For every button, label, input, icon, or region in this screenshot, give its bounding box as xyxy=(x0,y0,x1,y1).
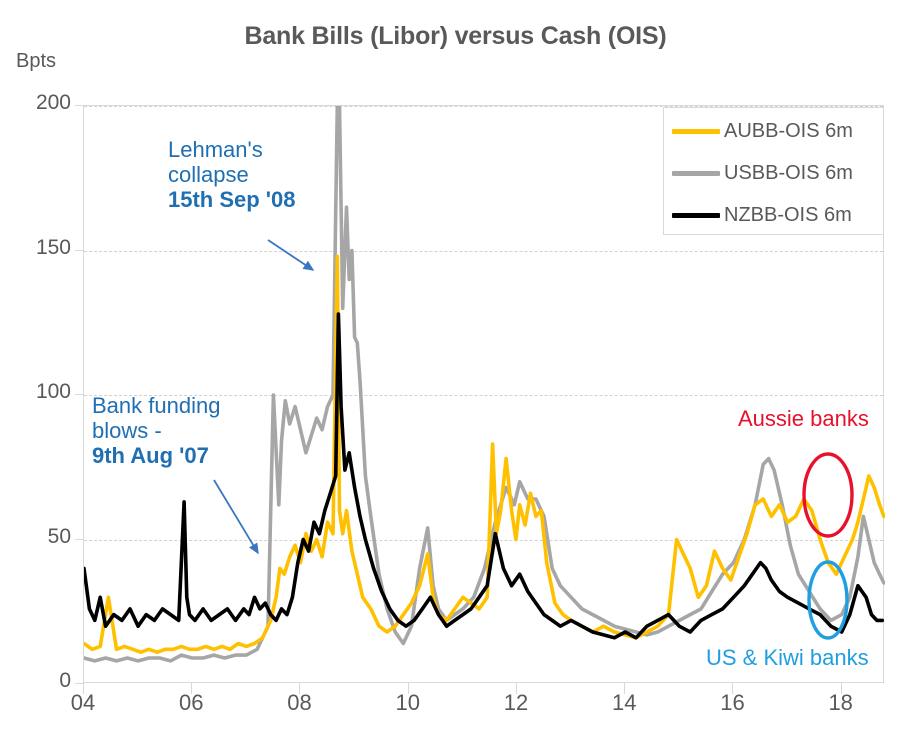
annotation-line: US & Kiwi banks xyxy=(706,645,869,670)
y-tick-label-50: 50 xyxy=(1,525,71,549)
annotation-bank-funding-blows: Bank fundingblows -9th Aug '07 xyxy=(92,393,220,468)
y-tick-label-200: 200 xyxy=(1,91,71,115)
x-tick-mark-06 xyxy=(191,683,192,694)
legend-swatch-icon xyxy=(672,213,720,218)
y-tick-mark-150 xyxy=(75,250,83,251)
y-tick-label-100: 100 xyxy=(1,380,71,404)
x-tick-mark-18 xyxy=(841,683,842,694)
legend-item-nzbb-ois-6m[interactable]: NZBB-OIS 6m xyxy=(672,204,852,226)
chart-legend: AUBB-OIS 6mUSBB-OIS 6mNZBB-OIS 6m xyxy=(663,107,884,235)
annotation-lehman-collapse: Lehman'scollapse15th Sep '08 xyxy=(168,137,296,212)
chart-container: Bank Bills (Libor) versus Cash (OIS) Bpt… xyxy=(0,0,911,755)
x-tick-mark-10 xyxy=(408,683,409,694)
legend-label: USBB-OIS 6m xyxy=(724,162,853,185)
annotation-line: Lehman's xyxy=(168,137,296,162)
annotation-line: 15th Sep '08 xyxy=(168,187,296,212)
chart-title: Bank Bills (Libor) versus Cash (OIS) xyxy=(0,22,911,51)
annotation-line: Bank funding xyxy=(92,393,220,418)
y-tick-mark-100 xyxy=(75,394,83,395)
y-tick-label-150: 150 xyxy=(1,236,71,260)
legend-swatch-icon xyxy=(672,129,720,134)
y-tick-mark-0 xyxy=(75,683,83,684)
annotation-line: 9th Aug '07 xyxy=(92,443,220,468)
annotation-line: blows - xyxy=(92,418,220,443)
annotation-aussie-banks: Aussie banks xyxy=(738,406,869,431)
legend-item-aubb-ois-6m[interactable]: AUBB-OIS 6m xyxy=(672,120,853,142)
annotation-line: collapse xyxy=(168,162,296,187)
legend-swatch-icon xyxy=(672,171,720,176)
y-axis-unit-label: Bpts xyxy=(16,50,56,73)
y-tick-mark-50 xyxy=(75,539,83,540)
legend-item-usbb-ois-6m[interactable]: USBB-OIS 6m xyxy=(672,162,853,184)
x-tick-mark-12 xyxy=(516,683,517,694)
annotation-us-kiwi-banks: US & Kiwi banks xyxy=(706,645,869,670)
x-tick-mark-14 xyxy=(624,683,625,694)
annotation-line: Aussie banks xyxy=(738,406,869,431)
legend-label: NZBB-OIS 6m xyxy=(724,204,852,227)
y-tick-mark-200 xyxy=(75,105,83,106)
x-tick-mark-08 xyxy=(299,683,300,694)
x-tick-mark-16 xyxy=(732,683,733,694)
x-tick-mark-04 xyxy=(83,683,84,694)
legend-label: AUBB-OIS 6m xyxy=(724,120,853,143)
